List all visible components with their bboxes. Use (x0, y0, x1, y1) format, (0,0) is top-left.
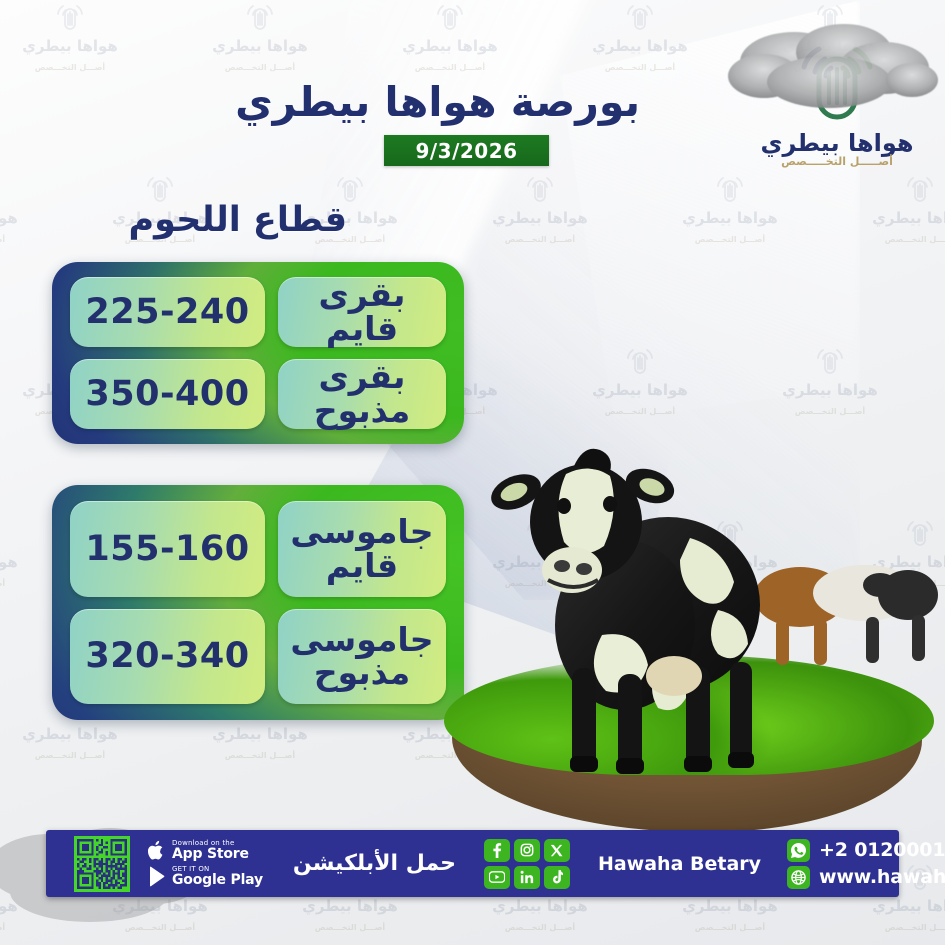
price-value: 155-160 (70, 501, 265, 597)
linkedin-glyph (520, 870, 534, 884)
price-label: بقرى مذبوح (278, 359, 446, 429)
watermark-tile: هواها بيطريأصـــل التخـــصص (550, 344, 730, 418)
price-label: جاموسى قايم (278, 501, 446, 597)
social-links (484, 839, 570, 889)
globe-glyph (791, 870, 806, 885)
contact-info: +2 01200019964 www.hawahabetary.com (787, 839, 945, 889)
facebook-glyph (490, 843, 503, 858)
poster-root: هواها بيطريأصـــل التخـــصصهواها بيطريأص… (0, 0, 945, 945)
qr-code[interactable] (74, 836, 130, 892)
price-label: جاموسى مذبوح (278, 609, 446, 705)
watermark-tile: هواها بيطريأصـــل التخـــصص (830, 172, 945, 246)
qr-code-icon (77, 839, 127, 889)
apple-icon (148, 840, 166, 861)
linkedin-icon[interactable] (514, 866, 540, 889)
watermark-tile: هواها بيطريأصـــل التخـــصص (640, 172, 820, 246)
date-badge: 9/3/2026 (384, 135, 549, 166)
pasture-scene (430, 420, 945, 840)
instagram-icon[interactable] (514, 839, 540, 862)
app-store-label: App Store (172, 847, 249, 861)
price-value: 350-400 (70, 359, 265, 429)
watermark-tile: هواها بيطريأصـــل التخـــصص (0, 516, 60, 590)
watermark-tile: هواها بيطريأصـــل التخـــصص (0, 0, 160, 74)
logo-name: هواها بيطري (757, 129, 917, 157)
table-row: جاموسى مذبوح 320-340 (70, 609, 446, 705)
table-row: بقرى مذبوح 350-400 (70, 359, 446, 429)
watermark-tile: هواها بيطريأصـــل التخـــصص (930, 344, 945, 418)
facebook-icon[interactable] (484, 839, 510, 862)
globe-icon (787, 866, 810, 889)
whatsapp-icon (787, 839, 810, 862)
website-url: www.hawahabetary.com (819, 866, 945, 888)
whatsapp-glyph (791, 843, 806, 858)
footer-bar: Download on the App Store GET IT ON Goog… (46, 830, 899, 897)
watermark-tile: هواها بيطريأصـــل التخـــصص (740, 344, 920, 418)
contact-phone-row[interactable]: +2 01200019964 (787, 839, 945, 862)
section-heading-meat: قطاع اللحوم (129, 200, 348, 240)
watermark-tile: هواها بيطريأصـــل التخـــصص (170, 0, 350, 74)
brand-name: Hawaha Betary (598, 853, 761, 875)
google-play-icon (148, 866, 166, 887)
contact-website-row[interactable]: www.hawahabetary.com (787, 866, 945, 889)
google-play-button[interactable]: GET IT ON Google Play (148, 866, 263, 887)
price-label: بقرى قايم (278, 277, 446, 347)
table-row: بقرى قايم 225-240 (70, 277, 446, 347)
download-app-label: حمل الأبلكيشن (293, 851, 456, 876)
youtube-icon[interactable] (484, 866, 510, 889)
tiktok-icon[interactable] (544, 866, 570, 889)
table-row: جاموسى قايم 155-160 (70, 501, 446, 597)
page-title: بورصة هواها بيطري (235, 78, 640, 126)
watermark-tile: هواها بيطريأصـــل التخـــصص (360, 0, 540, 74)
watermark-tile: هواها بيطريأصـــل التخـــصص (0, 172, 60, 246)
price-card-cattle: بقرى قايم 225-240 بقرى مذبوح 350-400 (52, 262, 464, 444)
google-play-label: Google Play (172, 873, 263, 887)
storm-cloud-icon (724, 20, 939, 125)
instagram-glyph (520, 843, 534, 857)
youtube-glyph (489, 871, 505, 883)
watermark-tile: هواها بيطريأصـــل التخـــصص (450, 172, 630, 246)
app-store-button[interactable]: Download on the App Store (148, 840, 263, 861)
price-card-buffalo: جاموسى قايم 155-160 جاموسى مذبوح 320-340 (52, 485, 464, 720)
tiktok-glyph (550, 870, 563, 885)
app-store-badges: Download on the App Store GET IT ON Goog… (148, 840, 263, 887)
holstein-cow (490, 430, 790, 780)
price-value: 225-240 (70, 277, 265, 347)
watermark-tile: هواها بيطريأصـــل التخـــصص (550, 0, 730, 74)
phone-number: +2 01200019964 (819, 839, 945, 861)
price-value: 320-340 (70, 609, 265, 705)
x-twitter-icon[interactable] (544, 839, 570, 862)
x-glyph (550, 844, 563, 857)
